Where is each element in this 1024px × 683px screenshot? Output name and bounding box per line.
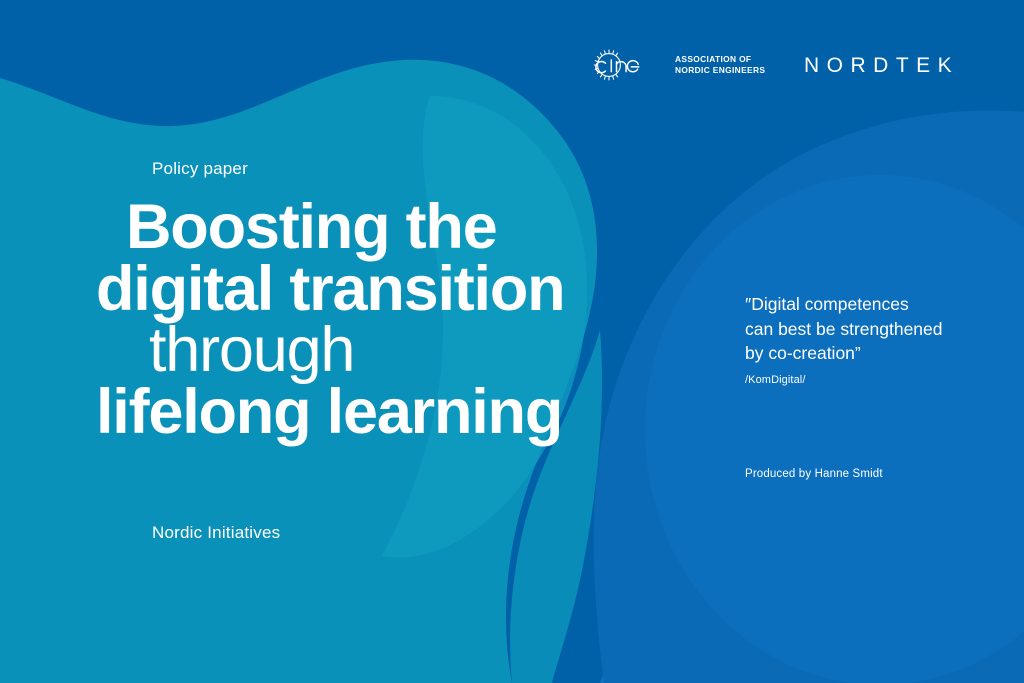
ane-logo[interactable]: ASSOCIATION OF NORDIC ENGINEERS <box>592 48 765 82</box>
subtitle-label: Nordic Initiatives <box>152 522 280 544</box>
quote-attribution: /KomDigital/ <box>745 373 806 387</box>
ane-gear-icon <box>592 48 666 82</box>
pull-quote: ″Digital competences can best be strengt… <box>745 292 1000 366</box>
logo-bar: ASSOCIATION OF NORDIC ENGINEERS NORDTEK <box>592 48 992 94</box>
ane-line-2: NORDIC ENGINEERS <box>675 65 765 76</box>
nordtek-wordmark: NORDTEK <box>804 54 959 77</box>
ane-line-1: ASSOCIATION OF <box>675 54 765 65</box>
title-line-3: through <box>96 320 716 382</box>
policy-paper-cover: ASSOCIATION OF NORDIC ENGINEERS NORDTEK … <box>0 0 1024 683</box>
page-title: Boosting the digital transition through … <box>96 197 716 444</box>
ane-wordmark-text: ASSOCIATION OF NORDIC ENGINEERS <box>675 54 765 76</box>
title-line-1: Boosting the <box>96 197 716 259</box>
quote-line-2: can best be strengthened <box>745 317 1000 342</box>
quote-line-3: by co-creation” <box>745 341 1000 366</box>
title-line-2: digital transition <box>96 259 716 321</box>
title-line-4: lifelong learning <box>96 382 716 444</box>
producer-credit: Produced by Hanne Smidt <box>745 467 883 482</box>
quote-line-1: ″Digital competences <box>745 292 1000 317</box>
eyebrow-label: Policy paper <box>152 158 248 180</box>
nordtek-logo[interactable]: NORDTEK <box>804 53 959 79</box>
